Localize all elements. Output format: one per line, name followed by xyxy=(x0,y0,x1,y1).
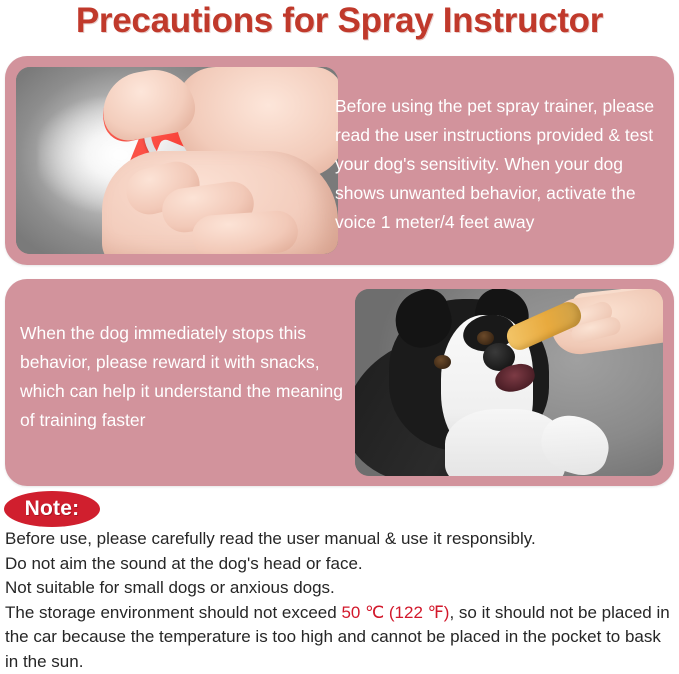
dog-receiving-treat-reward-photo xyxy=(355,289,663,476)
precaution-panel-one: Before using the pet spray trainer, plea… xyxy=(5,56,674,265)
finger-three xyxy=(191,209,300,254)
hand-holding-red-spray-trainer-photo xyxy=(16,67,338,254)
dog-eye-right xyxy=(477,331,494,345)
precaution-panel-two: When the dog immediately stops this beha… xyxy=(5,279,674,486)
note-list: Before use, please carefully read the us… xyxy=(5,527,677,674)
storage-temperature-highlight: 50 ℃ (122 ℉) xyxy=(341,603,449,622)
note-line: Before use, please carefully read the us… xyxy=(5,527,677,552)
dog-eye-left xyxy=(434,355,451,369)
note-line: Not suitable for small dogs or anxious d… xyxy=(5,576,677,601)
panel-one-text: Before using the pet spray trainer, plea… xyxy=(335,92,665,237)
note-badge: Note: xyxy=(4,491,100,527)
page-title: Precautions for Spray Instructor xyxy=(0,1,679,41)
note-line-storage: The storage environment should not excee… xyxy=(5,601,677,674)
note-line: Do not aim the sound at the dog's head o… xyxy=(5,552,677,577)
panel-two-text: When the dog immediately stops this beha… xyxy=(20,319,360,435)
storage-text-before: The storage environment should not excee… xyxy=(5,603,341,622)
